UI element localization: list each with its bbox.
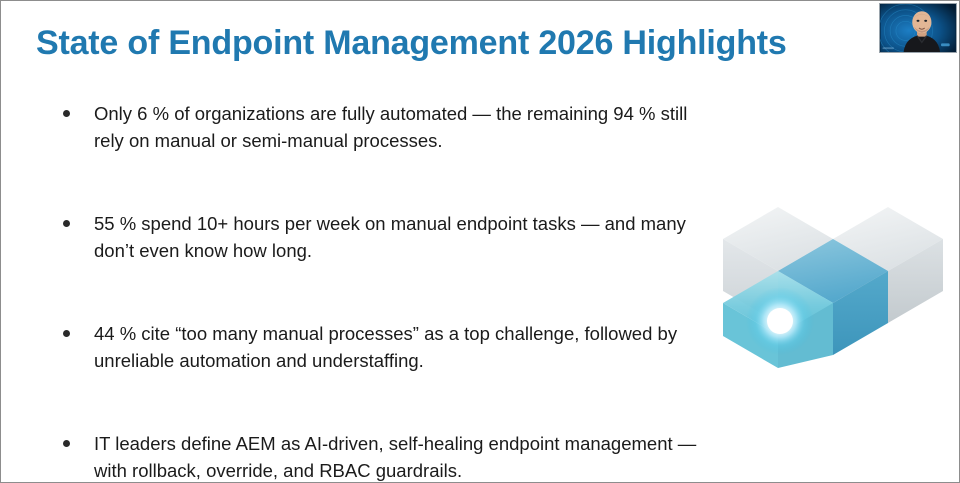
- bullet-dot-icon: [63, 440, 70, 447]
- bullet-list: Only 6 % of organizations are fully auto…: [59, 101, 699, 483]
- list-item: 44 % cite “too many manual processes” as…: [59, 321, 699, 374]
- bullet-dot-icon: [63, 220, 70, 227]
- page-title: State of Endpoint Management 2026 Highli…: [36, 23, 881, 63]
- bullet-text: Only 6 % of organizations are fully auto…: [94, 101, 699, 154]
- list-item: Only 6 % of organizations are fully auto…: [59, 101, 699, 154]
- list-item: 55 % spend 10+ hours per week on manual …: [59, 211, 699, 264]
- bullet-dot-icon: [63, 330, 70, 337]
- bullet-text: 44 % cite “too many manual processes” as…: [94, 321, 699, 374]
- presenter-webcam-thumbnail[interactable]: [879, 3, 957, 53]
- isometric-cubes-icon: [723, 173, 943, 368]
- bullet-text: 55 % spend 10+ hours per week on manual …: [94, 211, 699, 264]
- bullet-text: IT leaders define AEM as AI-driven, self…: [94, 431, 699, 483]
- bullet-dot-icon: [63, 110, 70, 117]
- list-item: IT leaders define AEM as AI-driven, self…: [59, 431, 699, 483]
- presentation-slide: State of Endpoint Management 2026 Highli…: [0, 0, 960, 483]
